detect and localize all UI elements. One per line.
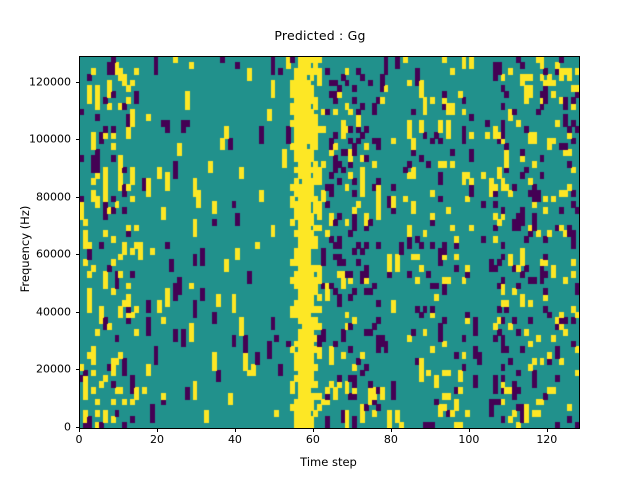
y-tick-mark <box>76 82 80 83</box>
x-tick-label: 60 <box>306 433 320 446</box>
x-tick-mark <box>235 428 236 432</box>
x-tick-mark <box>157 428 158 432</box>
y-tick-mark <box>76 197 80 198</box>
y-tick-mark <box>76 427 80 428</box>
x-tick-mark <box>79 428 80 432</box>
x-tick-mark <box>391 428 392 432</box>
x-tick-mark <box>547 428 548 432</box>
heatmap-axes <box>79 56 580 429</box>
y-tick-label: 100000 <box>29 133 71 146</box>
x-tick-label: 80 <box>384 433 398 446</box>
y-tick-label: 120000 <box>29 75 71 88</box>
x-tick-mark <box>313 428 314 432</box>
y-tick-label: 0 <box>64 421 71 434</box>
y-tick-label: 40000 <box>36 305 71 318</box>
y-tick-label: 60000 <box>36 248 71 261</box>
matplotlib-figure: Predicted : Gg 0204060801001200200004000… <box>0 0 640 480</box>
y-tick-mark <box>76 312 80 313</box>
x-tick-label: 100 <box>458 433 479 446</box>
y-tick-mark <box>76 139 80 140</box>
x-axis-label: Time step <box>79 455 578 469</box>
page-title: Predicted : Gg <box>0 28 640 43</box>
x-tick-label: 120 <box>536 433 557 446</box>
y-axis-label: Frequency (Hz) <box>18 169 32 329</box>
x-tick-mark <box>469 428 470 432</box>
y-tick-mark <box>76 369 80 370</box>
x-tick-label: 0 <box>76 433 83 446</box>
y-tick-label: 20000 <box>36 363 71 376</box>
y-tick-mark <box>76 254 80 255</box>
x-tick-label: 20 <box>150 433 164 446</box>
x-tick-label: 40 <box>228 433 242 446</box>
y-tick-label: 80000 <box>36 190 71 203</box>
spectrogram-heatmap <box>80 57 579 428</box>
